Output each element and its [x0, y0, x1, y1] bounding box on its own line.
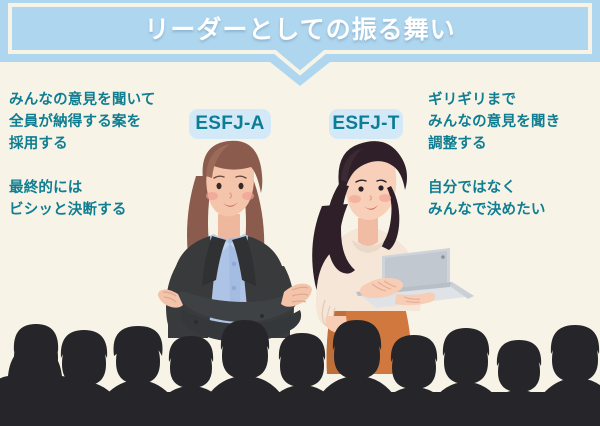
left-paragraph-2: 最終的にはビシッと決断する: [9, 177, 127, 221]
page-title: リーダーとしての振る舞い: [0, 12, 600, 48]
right-paragraph-1: ギリギリまでみんなの意見を聞き調整する: [428, 89, 560, 155]
badge-esfj-a[interactable]: ESFJ-A: [189, 109, 271, 139]
infographic-canvas: リーダーとしての振る舞い ESFJ-A ESFJ-T みんなの意見を聞いて全員が…: [0, 0, 600, 426]
left-paragraph-1: みんなの意見を聞いて全員が納得する案を採用する: [9, 89, 156, 155]
title-banner: リーダーとしての振る舞い: [0, 0, 600, 86]
badge-esfj-t[interactable]: ESFJ-T: [329, 109, 403, 139]
right-paragraph-2: 自分ではなくみんなで決めたい: [428, 177, 546, 221]
